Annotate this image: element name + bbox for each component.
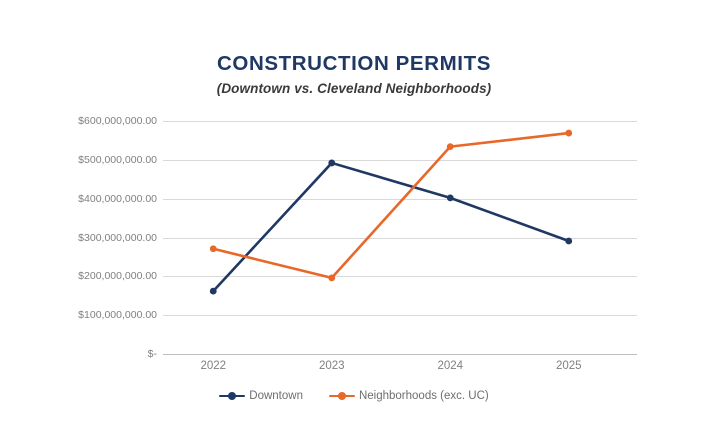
chart-subtitle: (Downtown vs. Cleveland Neighborhoods) xyxy=(0,81,708,96)
x-axis-label: 2024 xyxy=(410,360,490,372)
y-axis-label: $400,000,000.00 xyxy=(45,193,157,205)
x-axis-label: 2022 xyxy=(173,360,253,372)
y-axis-label: $100,000,000.00 xyxy=(45,309,157,321)
y-axis-label: $- xyxy=(45,348,157,360)
chart-header: CONSTRUCTION PERMITS (Downtown vs. Cleve… xyxy=(0,52,708,96)
legend-item[interactable]: Downtown xyxy=(219,390,303,402)
x-axis-label: 2023 xyxy=(292,360,372,372)
legend-item[interactable]: Neighborhoods (exc. UC) xyxy=(329,390,489,402)
x-axis-label: 2025 xyxy=(529,360,609,372)
y-axis-tick-labels: $600,000,000.00$500,000,000.00$400,000,0… xyxy=(45,121,157,354)
gridline xyxy=(163,121,637,122)
legend-label: Neighborhoods (exc. UC) xyxy=(359,390,489,402)
gridline xyxy=(163,238,637,239)
x-axis-tick-labels: 2022202320242025 xyxy=(163,360,637,380)
legend-swatch-icon xyxy=(219,391,245,402)
legend-label: Downtown xyxy=(249,390,303,402)
gridline xyxy=(163,315,637,316)
gridline xyxy=(163,199,637,200)
gridline xyxy=(163,276,637,277)
plot-area xyxy=(163,121,637,354)
y-axis-label: $600,000,000.00 xyxy=(45,115,157,127)
chart-container: CONSTRUCTION PERMITS (Downtown vs. Cleve… xyxy=(0,0,708,442)
y-axis-label: $500,000,000.00 xyxy=(45,154,157,166)
y-axis-label: $200,000,000.00 xyxy=(45,270,157,282)
chart-title: CONSTRUCTION PERMITS xyxy=(0,52,708,76)
y-axis-label: $300,000,000.00 xyxy=(45,232,157,244)
legend-swatch-icon xyxy=(329,391,355,402)
x-axis-line xyxy=(163,354,637,355)
gridline xyxy=(163,160,637,161)
chart-legend: DowntownNeighborhoods (exc. UC) xyxy=(0,390,708,402)
